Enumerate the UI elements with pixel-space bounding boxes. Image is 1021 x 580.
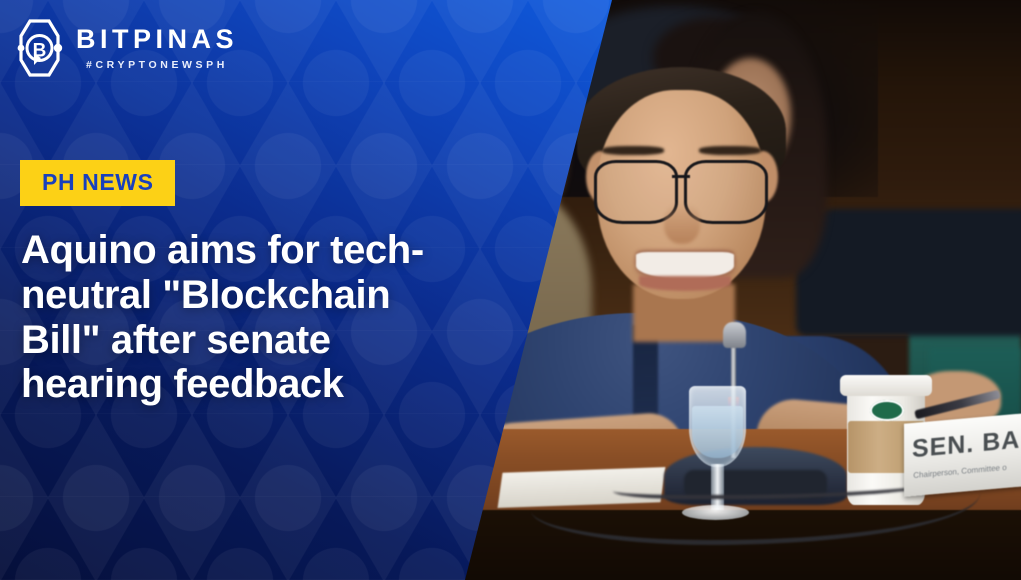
category-badge[interactable]: PH NEWS: [20, 160, 175, 206]
microphone-head-icon: [723, 322, 746, 348]
nameplate-subtitle: Chairperson, Committee o: [913, 462, 1006, 479]
smile: [636, 252, 734, 279]
headline-text: Aquino aims for tech-neutral "Blockchain…: [21, 228, 451, 407]
nameplate-name: SEN. BAM: [912, 423, 1021, 463]
eyebrow-right: [699, 146, 760, 155]
brand-wordmark-block: BITPINAS #CRYPTONEWSPH: [76, 26, 238, 71]
brand-tagline: #CRYPTONEWSPH: [76, 60, 238, 71]
coffee-cup-lid: [840, 375, 932, 396]
brand-logo[interactable]: B BITPINAS #CRYPTONEWSPH: [8, 18, 238, 78]
nameplate: SEN. BAM Chairperson, Committee o: [904, 412, 1021, 496]
nose: [664, 203, 701, 244]
bitpinas-hexagon-b-icon: B: [8, 18, 64, 78]
eyebrow-left: [602, 146, 663, 155]
coffee-logo-icon: [870, 400, 904, 421]
news-banner: SEN. BAM Chairperson, Committee o B BITP…: [0, 0, 1021, 580]
glasses-bridge: [672, 175, 689, 179]
brand-wordmark: BITPINAS: [76, 26, 238, 53]
water-level: [692, 406, 743, 458]
